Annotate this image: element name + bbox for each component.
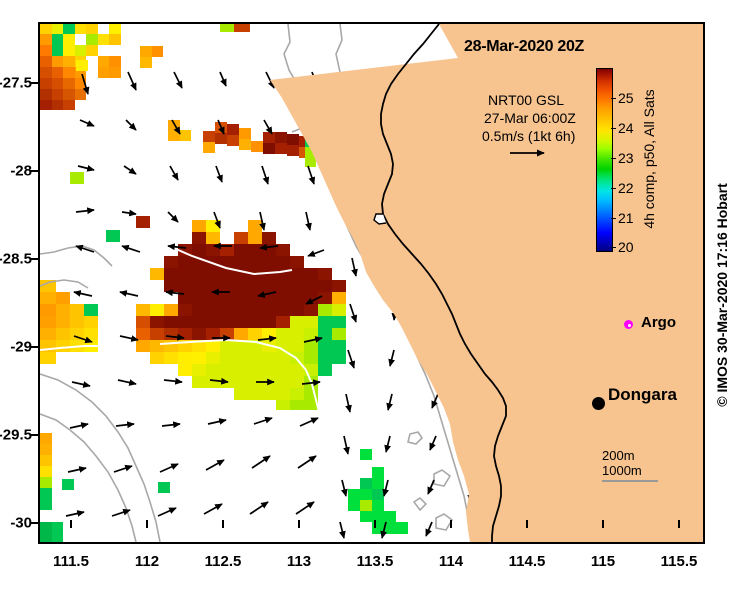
dongara-town-marker[interactable] bbox=[592, 397, 605, 410]
y-tick-label: -27.5 bbox=[0, 75, 32, 92]
y-inner-tick bbox=[703, 259, 705, 261]
y-tick-label: -28.5 bbox=[0, 251, 32, 268]
credit-text: © IMOS 30-Mar-2020 17:16 Hobart bbox=[714, 183, 730, 407]
y-inner-tick bbox=[703, 435, 705, 437]
colorbar-tick bbox=[611, 158, 616, 159]
x-tick-label: 112.5 bbox=[205, 553, 242, 570]
depth-contour-legend: 200m 1000m bbox=[602, 448, 672, 482]
annotation-product: NRT00 GSL bbox=[488, 92, 564, 108]
colorbar-tick bbox=[611, 128, 616, 129]
x-tick-label: 111.5 bbox=[53, 553, 89, 570]
y-tick-label: -29.5 bbox=[0, 427, 32, 444]
x-tick bbox=[678, 520, 680, 528]
x-tick bbox=[222, 520, 224, 528]
sst-map-figure: 28-Mar-2020 20Z NRT00 GSL 27-Mar 06:00Z … bbox=[0, 0, 739, 592]
x-tick-label: 114 bbox=[439, 553, 463, 570]
colorbar-tick-label: 22 bbox=[618, 180, 634, 196]
credit-container: © IMOS 30-Mar-2020 17:16 Hobart bbox=[711, 60, 733, 530]
depth-legend-deep: 1000m bbox=[602, 463, 672, 478]
y-inner-tick bbox=[703, 523, 705, 525]
argo-label: Argo bbox=[641, 314, 676, 331]
y-inner-tick bbox=[703, 84, 705, 86]
x-tick bbox=[450, 520, 452, 528]
colorbar-title-text: 4h comp, p50, All Sats bbox=[641, 89, 657, 228]
depth-legend-shallow: 200m bbox=[602, 448, 672, 463]
y-inner-tick bbox=[703, 347, 705, 349]
x-tick bbox=[526, 520, 528, 528]
x-tick-label: 113.5 bbox=[357, 553, 394, 570]
x-tick-label: 113 bbox=[287, 553, 311, 570]
y-tick-label: -29 bbox=[10, 339, 32, 356]
depth-legend-rule bbox=[602, 480, 658, 482]
y-tick-label: -30 bbox=[10, 515, 32, 532]
colorbar-tick bbox=[611, 98, 616, 99]
colorbar-tick bbox=[611, 218, 616, 219]
x-tick-label: 115 bbox=[591, 553, 615, 570]
y-inner-tick bbox=[703, 171, 705, 173]
argo-float-marker[interactable] bbox=[624, 320, 633, 329]
colorbar-tick bbox=[611, 188, 616, 189]
x-tick bbox=[70, 520, 72, 528]
x-tick bbox=[298, 520, 300, 528]
x-tick-label: 115.5 bbox=[661, 553, 698, 570]
colorbar-tick-label: 21 bbox=[618, 210, 634, 226]
x-tick-label: 112 bbox=[135, 553, 159, 570]
annotation-time: 27-Mar 06:00Z bbox=[484, 110, 576, 126]
dongara-label: Dongara bbox=[608, 385, 677, 405]
y-tick-label: -28 bbox=[10, 163, 32, 180]
x-tick-label: 114.5 bbox=[509, 553, 546, 570]
x-tick bbox=[602, 520, 604, 528]
colorbar-tick-label: 23 bbox=[618, 150, 634, 166]
velocity-scale-arrow-icon bbox=[508, 146, 552, 160]
x-tick bbox=[146, 520, 148, 528]
colorbar-tick-label: 24 bbox=[618, 120, 634, 136]
annotation-speed-scale: 0.5m/s (1kt 6h) bbox=[482, 128, 575, 144]
colorbar-title: 4h comp, p50, All Sats bbox=[640, 68, 658, 250]
map-title-date: 28-Mar-2020 20Z bbox=[464, 38, 584, 56]
colorbar-tick bbox=[611, 247, 616, 248]
colorbar[interactable]: 25 24 23 22 21 20 4h comp, p50, All Sats bbox=[596, 68, 660, 260]
colorbar-tick-label: 20 bbox=[618, 239, 634, 255]
colorbar-gradient bbox=[596, 68, 613, 252]
colorbar-tick-label: 25 bbox=[618, 90, 634, 106]
x-tick bbox=[374, 520, 376, 528]
